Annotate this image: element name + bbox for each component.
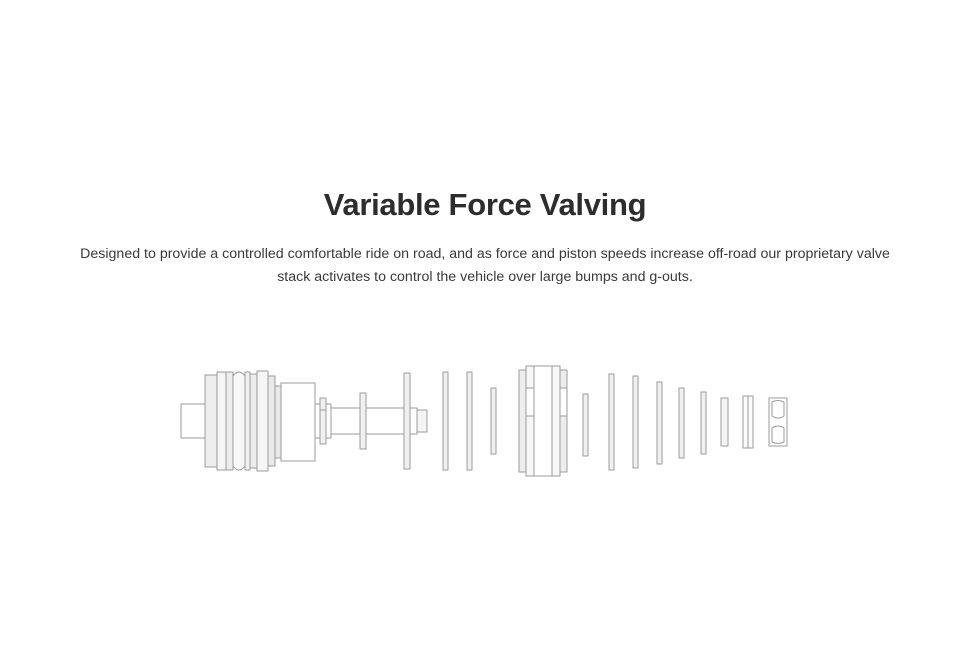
backup-washers-part (721, 396, 753, 448)
shim-stack-primary-part (443, 372, 496, 470)
diagram-container (0, 340, 970, 520)
page-title: Variable Force Valving (0, 186, 970, 224)
section-description: Designed to provide a controlled comfort… (65, 243, 905, 288)
shim-stack-secondary-part (583, 374, 706, 470)
product-feature-section: Variable Force Valving Designed to provi… (0, 0, 970, 647)
shaft-rod-part (331, 373, 427, 469)
main-piston-body-part (205, 371, 275, 471)
retaining-nut-part (769, 398, 787, 446)
exploded-valve-stack-diagram (175, 340, 795, 510)
secondary-piston-part (519, 366, 567, 476)
retaining-ring-part (315, 398, 331, 444)
spacer-block-part (275, 383, 315, 461)
